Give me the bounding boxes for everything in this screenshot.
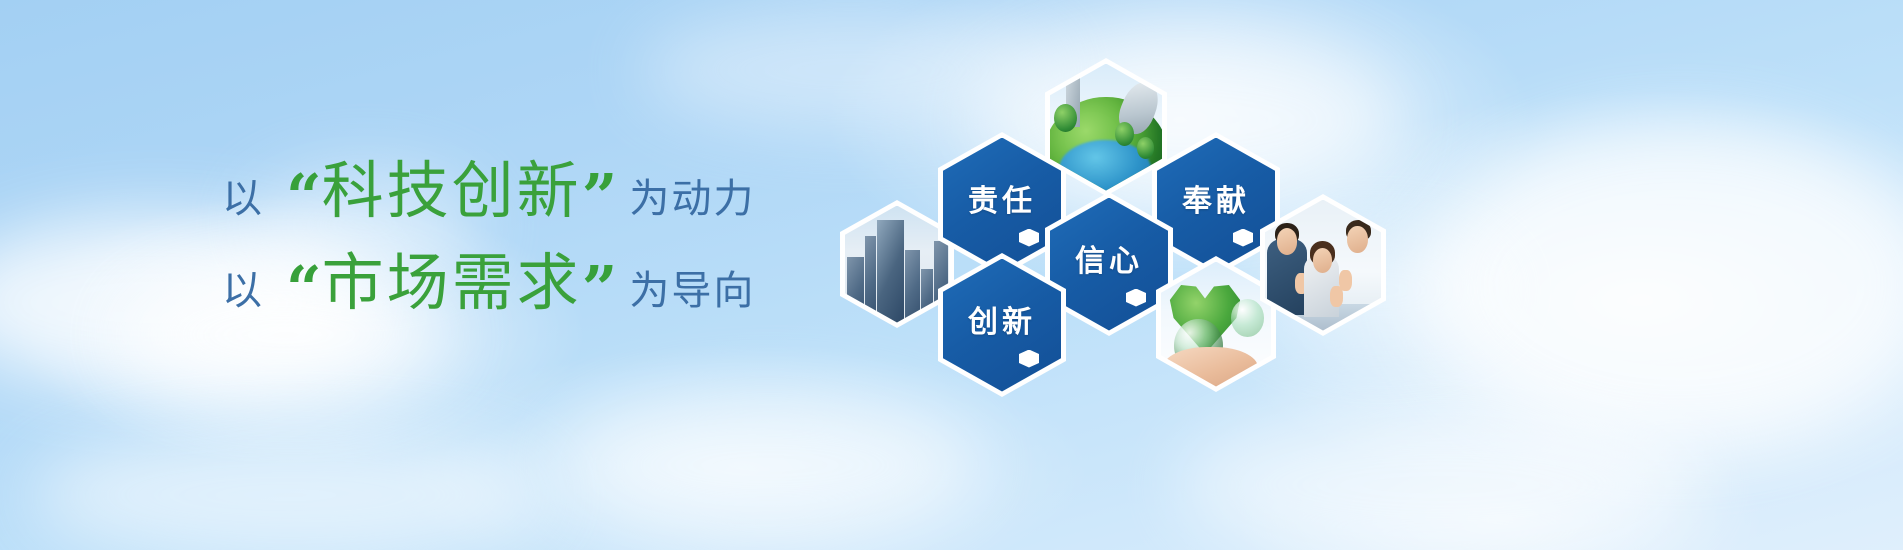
slogan-line-1-close-quote: ” [582,166,618,228]
hexagon-green-earth-image [1050,64,1162,191]
hexagon-cluster: 责任 奉献 信心 创新 [820,48,1420,448]
slogan-line-2-keyword: 市场需求 [322,232,582,322]
hexagon-dot-icon [1126,289,1146,307]
hexagon-green-hand-photo[interactable] [1156,256,1276,392]
cloud-blob [1420,120,1903,450]
hexagon-dedication-face: 奉献 [1157,138,1275,271]
hexagon-confidence-face: 信心 [1050,198,1168,331]
slogan-line-1-tail: 为动力 [629,166,755,224]
hexagon-city-image [845,206,949,323]
hexagon-dot-icon [1019,350,1039,368]
hexagon-responsibility-face: 责任 [943,138,1061,271]
green-earth-lightbulb-icon [1050,64,1162,191]
hexagon-dot-icon [1019,229,1039,247]
slogan-line-1-keyword: 科技创新 [322,140,582,230]
hexagon-city-photo[interactable] [840,200,954,328]
hero-banner: 以 “ 科技创新 ” 为动力 以 “ 市场需求 ” 为导向 [0,0,1903,550]
cloud-blob [30,430,550,550]
hexagon-innovation-face: 创新 [943,259,1061,392]
slogan-line-2-close-quote: ” [582,258,618,320]
slogan-line-2: 以 “ 市场需求 ” 为导向 [222,232,862,324]
slogan-line-1-open-quote: “ [286,166,322,228]
hand-holding-green-globe-icon [1161,262,1271,387]
hexagon-green-hand-image [1161,262,1271,387]
slogan-line-1: 以 “ 科技创新 ” 为动力 [222,140,862,232]
slogan-line-2-lead: 以 [222,258,264,316]
city-skyline-icon [845,206,949,323]
slogan-line-1-lead: 以 [222,166,264,224]
hexagon-business-team-image [1265,200,1381,331]
hexagon-innovation-label: 创新 [968,297,1036,341]
hexagon-responsibility-label: 责任 [968,176,1036,220]
slogan-line-2-open-quote: “ [286,258,322,320]
business-team-thumbs-up-icon [1265,200,1381,331]
hexagon-confidence-label: 信心 [1075,236,1143,280]
slogan-block: 以 “ 科技创新 ” 为动力 以 “ 市场需求 ” 为导向 [222,140,862,324]
slogan-line-2-tail: 为导向 [629,258,755,316]
hexagon-dot-icon [1233,229,1253,247]
hexagon-dedication-label: 奉献 [1182,176,1250,220]
